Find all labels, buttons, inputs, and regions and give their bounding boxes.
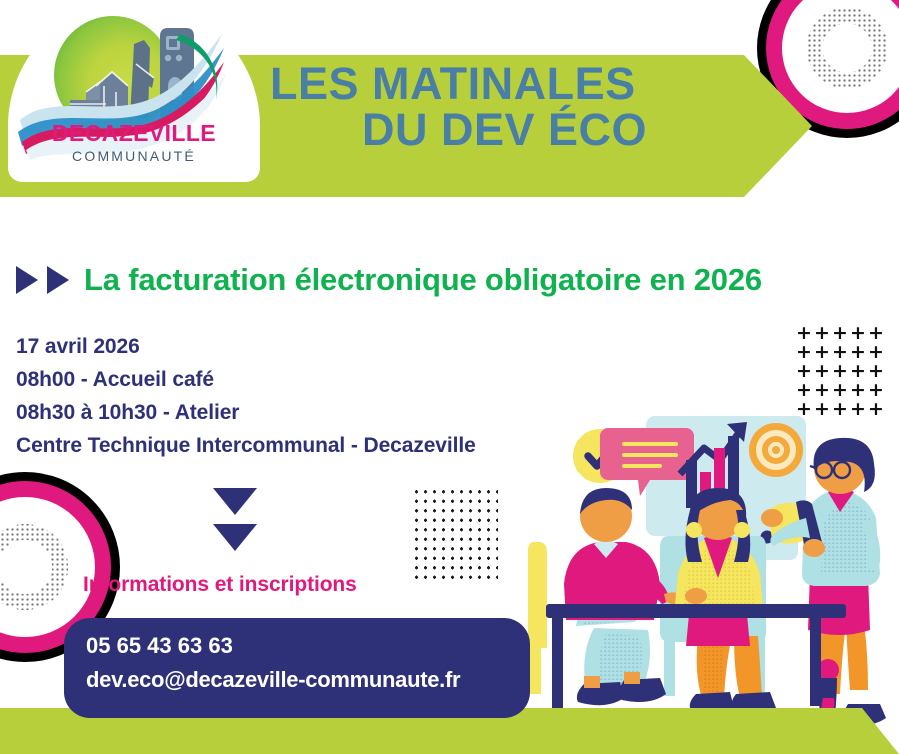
plus-icon: + [850,400,866,419]
detail-line-date: 17 avril 2026 [16,330,476,363]
detail-line-workshop: 08h30 à 10h30 - Atelier [16,396,476,429]
detail-line-venue: Centre Technique Intercommunal - Decazev… [16,429,476,462]
contact-phone[interactable]: 05 65 43 63 63 [86,633,530,659]
woman-earring [734,522,750,538]
woman-hand [685,588,707,604]
decor-plus-grid: +++++++++++++++++++++++++ [795,324,885,406]
man-shoe [577,682,624,705]
standing-hand [803,539,825,557]
plus-icon: + [832,400,848,419]
plus-icon: + [868,400,884,419]
decor-dot-grid [412,487,498,579]
triangle-down-icon [213,488,257,515]
headline: La facturation électronique obligatoire … [16,262,762,298]
logo-subtitle: COMMUNAUTÉ [8,148,260,164]
target-icon [749,423,803,477]
plus-icon: + [796,400,812,419]
meeting-illustration [528,398,888,728]
triangle-right-icon [47,266,69,294]
triangle-down-icon [213,524,257,551]
decor-down-arrows [213,488,257,551]
triangle-right-icon [16,266,38,294]
standing-hand [761,509,783,527]
logo-name: DECAZEVILLE [8,120,260,147]
detail-line-welcome: 08h00 - Accueil café [16,363,476,396]
plus-icon: + [814,400,830,419]
title-line-2: DU DEV ÉCO [270,107,812,153]
logo-wordmark: DECAZEVILLE COMMUNAUTÉ [8,120,260,164]
contact-label: Informations et inscriptions [83,573,357,597]
headline-text: La facturation électronique obligatoire … [84,262,762,298]
event-details: 17 avril 2026 08h00 - Accueil café 08h30… [16,330,476,462]
woman-earring [686,522,702,538]
decazeville-communaute-logo: DECAZEVILLE COMMUNAUTÉ [8,0,260,182]
contact-email[interactable]: dev.eco@decazeville-communaute.fr [86,667,530,693]
title-line-1: LES MATINALES [270,58,636,109]
contact-pill[interactable]: 05 65 43 63 63 dev.eco@decazeville-commu… [64,618,530,718]
